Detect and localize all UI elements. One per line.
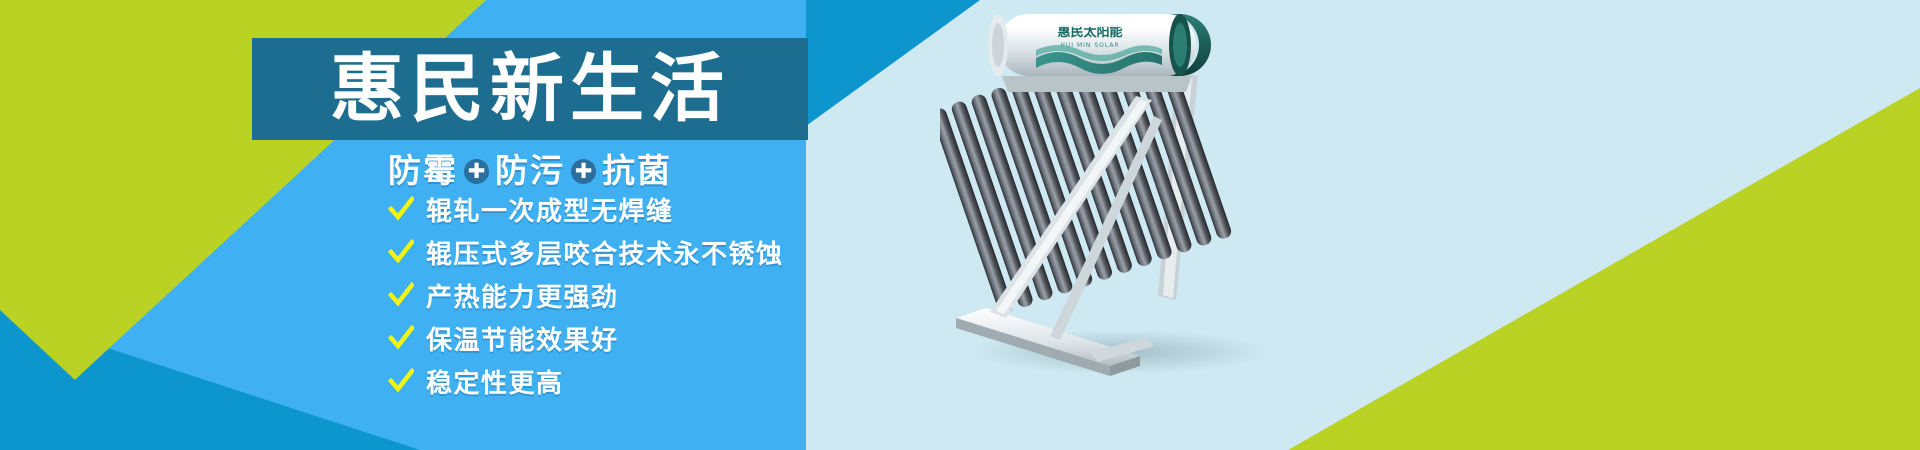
check-icon (388, 368, 414, 394)
title-block: 惠民新生活 (252, 38, 808, 140)
banner-title: 惠民新生活 (330, 52, 730, 126)
plus-icon-2: ✚ (571, 159, 596, 184)
subtitle-part-2: 防污 (495, 144, 565, 192)
feature-item: 辊轧一次成型无焊缝 (388, 192, 784, 226)
feature-label: 保温节能效果好 (426, 320, 619, 357)
feature-label: 稳定性更高 (426, 363, 564, 400)
product-tank-sublabel: HUI MIN SOLAR (1060, 42, 1119, 49)
check-icon (388, 196, 414, 222)
plus-icon-1: ✚ (464, 159, 489, 184)
banner-subtitle: 防霉 ✚ 防污 ✚ 抗菌 (252, 144, 808, 192)
check-icon (388, 325, 414, 351)
product-image-solar-water-heater: 惠民太阳能 HUI MIN SOLAR (940, 0, 1360, 400)
feature-list: 辊轧一次成型无焊缝 辊压式多层咬合技术永不锈蚀 产热能力更强劲 (388, 192, 784, 407)
promotional-banner: 惠民新生活 防霉 ✚ 防污 ✚ 抗菌 辊轧一次成型无焊缝 (0, 0, 1920, 450)
product-storage-tank: 惠民太阳能 HUI MIN SOLAR (988, 14, 1211, 76)
feature-label: 产热能力更强劲 (426, 277, 619, 314)
feature-item: 保温节能效果好 (388, 321, 784, 355)
subtitle-part-3: 抗菌 (602, 144, 672, 192)
subtitle-part-1: 防霉 (388, 144, 458, 192)
feature-label: 辊轧一次成型无焊缝 (426, 191, 674, 228)
banner-content: 惠民新生活 防霉 ✚ 防污 ✚ 抗菌 辊轧一次成型无焊缝 (0, 0, 980, 450)
check-icon (388, 282, 414, 308)
product-manifold (1002, 76, 1192, 92)
feature-item: 辊压式多层咬合技术永不锈蚀 (388, 235, 784, 269)
feature-item: 稳定性更高 (388, 364, 784, 398)
feature-label: 辊压式多层咬合技术永不锈蚀 (426, 234, 784, 271)
feature-item: 产热能力更强劲 (388, 278, 784, 312)
check-icon (388, 239, 414, 265)
